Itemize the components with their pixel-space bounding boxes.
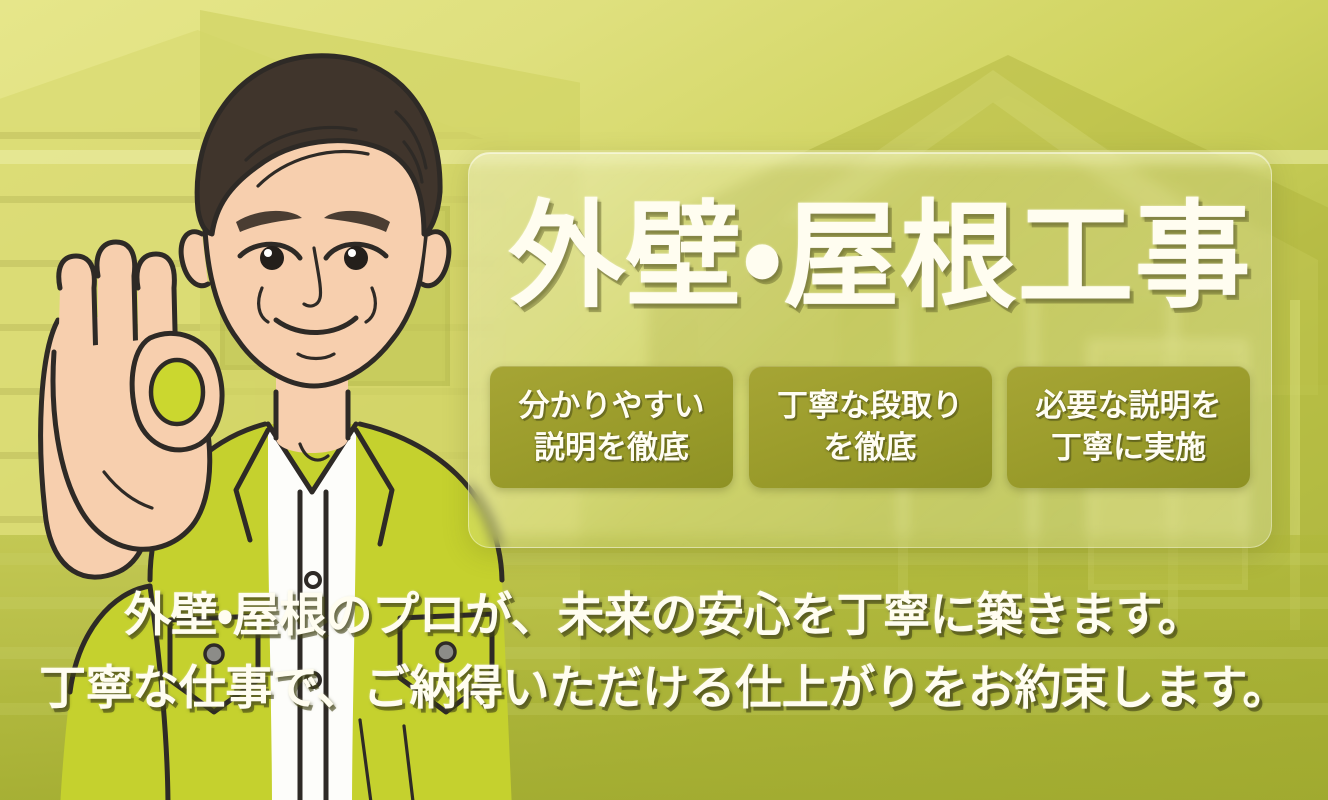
feature-badge-1: 分かりやすい 説明を徹底 [490, 366, 733, 488]
tagline-block: 外壁・屋根のプロが、未来の安心を丁寧に築きます。 丁寧な仕事で、ご納得いただける… [0, 584, 1328, 730]
feature-badge-2: 丁寧な段取り を徹底 [749, 366, 992, 488]
page-title: 外壁・屋根工事 [500, 196, 1260, 317]
feature-badge-3: 必要な説明を 丁寧に実施 [1007, 366, 1250, 488]
feature-badge-list: 分かりやすい 説明を徹底 丁寧な段取り を徹底 必要な説明を 丁寧に実施 [490, 366, 1250, 488]
hero-banner: .ln{fill:none;stroke:#2e2a26;stroke-widt… [0, 0, 1328, 800]
feature-badge-2-line2: を徹底 [824, 428, 917, 468]
feature-badge-1-line1: 分かりやすい [519, 386, 705, 426]
feature-badge-1-line2: 説明を徹底 [534, 428, 689, 468]
feature-badge-3-line1: 必要な説明を [1036, 386, 1222, 426]
feature-badge-3-line2: 丁寧に実施 [1051, 428, 1206, 468]
tagline-line-1: 外壁・屋根のプロが、未来の安心を丁寧に築きます。 [0, 584, 1328, 647]
feature-badge-2-line1: 丁寧な段取り [777, 386, 963, 426]
tagline-line-2: 丁寧な仕事で、ご納得いただける仕上がりをお約束します。 [0, 657, 1328, 720]
